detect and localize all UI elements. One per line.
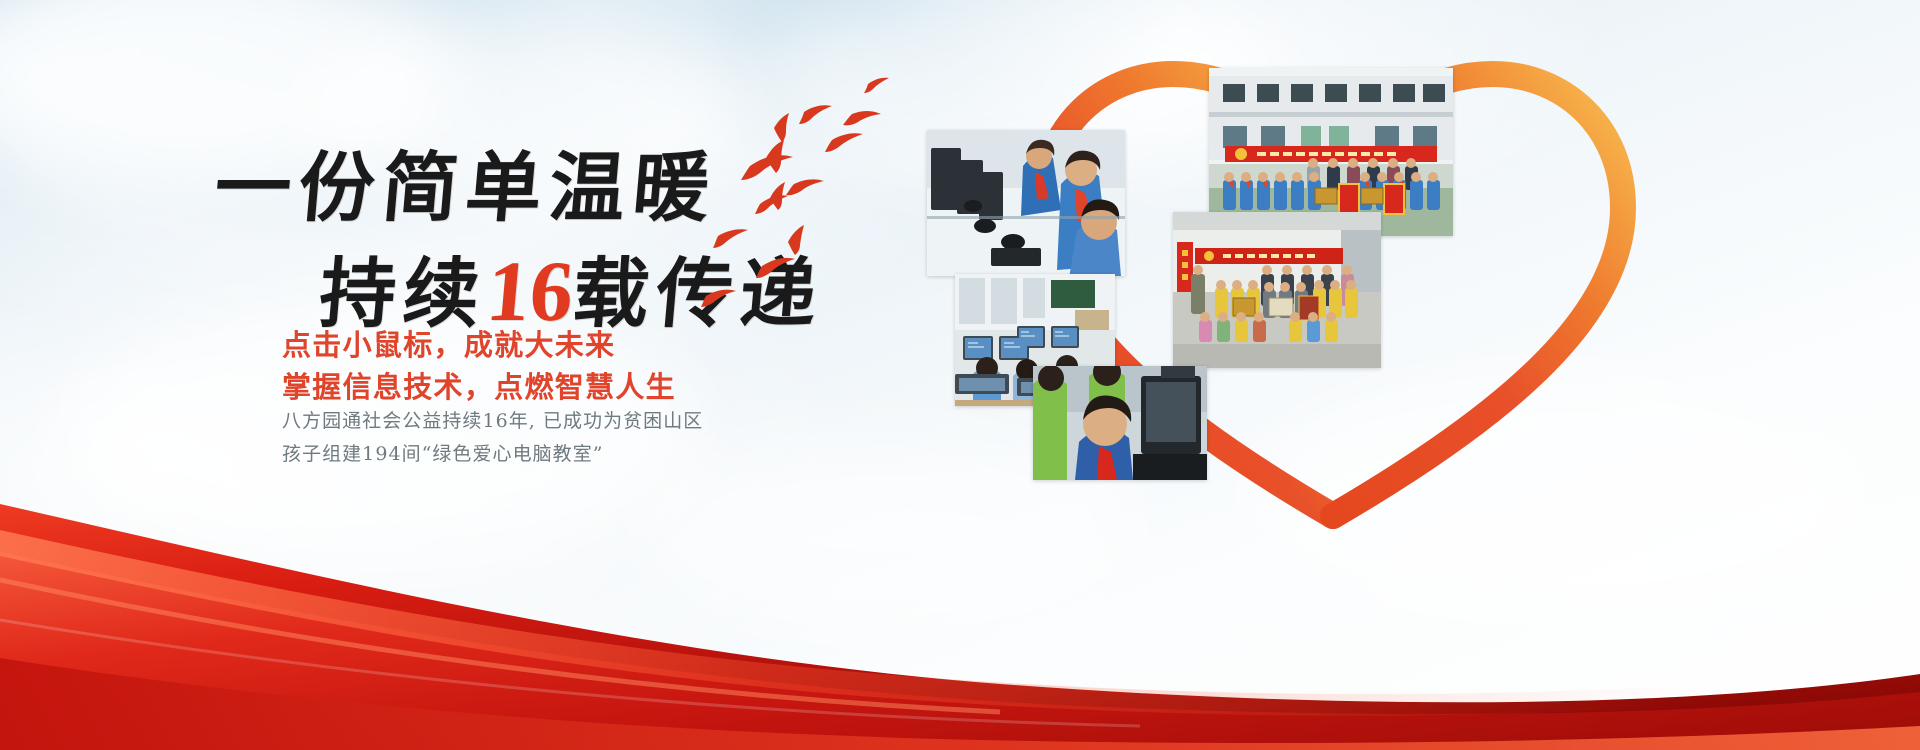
subtitle: 点击小鼠标，成就大未来 掌握信息技术，点燃智慧人生 xyxy=(282,325,676,409)
photo-computer-lab-students xyxy=(927,130,1125,276)
headline: 一份简单温暖 持续16载传递 xyxy=(0,150,760,334)
photo-group-award-ceremony xyxy=(1173,212,1381,368)
subtitle-line-2: 掌握信息技术，点燃智慧人生 xyxy=(282,367,676,409)
charity-banner: 一份简单温暖 持续16载传递 点击小鼠标，成就大未来 掌握信息技术，点燃智慧人生… xyxy=(0,0,1920,750)
headline-line-1: 一份简单温暖 xyxy=(212,150,764,226)
red-silk-ribbon xyxy=(0,420,1920,750)
headline-line-2: 持续16载传递 xyxy=(316,248,764,334)
photo-donation-ceremony-school xyxy=(1209,68,1453,236)
subtitle-line-1: 点击小鼠标，成就大未来 xyxy=(282,325,676,367)
flying-birds-icon xyxy=(700,70,940,330)
